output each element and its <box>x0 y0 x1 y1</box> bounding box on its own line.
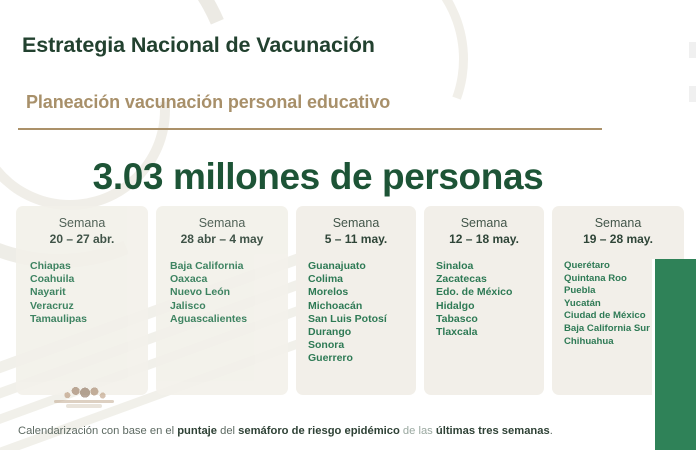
week-date-range: 12 – 18 may. <box>424 232 544 247</box>
week-card-header: Semana 19 – 28 may. <box>552 206 684 247</box>
list-item: Sonora <box>308 339 416 352</box>
state-list: Guanajuato Colima Morelos Michoacán San … <box>296 260 416 366</box>
green-sidebar-block <box>655 259 696 450</box>
state-list: Baja California Oaxaca Nuevo León Jalisc… <box>156 260 288 326</box>
edge-artifact <box>689 86 696 102</box>
week-label: Semana <box>16 216 148 231</box>
week-card-header: Semana 12 – 18 may. <box>424 206 544 247</box>
list-item: Guanajuato <box>308 260 416 273</box>
list-item: Tamaulipas <box>30 313 148 326</box>
headline-figure: 3.03 millones de personas <box>0 156 636 198</box>
list-item: Veracruz <box>30 300 148 313</box>
week-card-3: Semana 5 – 11 may. Guanajuato Colima Mor… <box>296 206 416 395</box>
list-item: Tabasco <box>436 313 544 326</box>
footer-text-1: Calendarización con base en el <box>18 425 177 437</box>
week-card-header: Semana 5 – 11 may. <box>296 206 416 247</box>
week-date-range: 19 – 28 may. <box>552 232 684 247</box>
list-item: Durango <box>308 326 416 339</box>
seal-ribbon <box>66 404 102 408</box>
page-title: Estrategia Nacional de Vacunación <box>22 33 375 58</box>
list-item: Edo. de México <box>436 286 544 299</box>
state-list: Chiapas Coahuila Nayarit Veracruz Tamaul… <box>16 260 148 326</box>
week-card-header: Semana 20 – 27 abr. <box>16 206 148 247</box>
list-item: Chiapas <box>30 260 148 273</box>
footer-bold-1: puntaje <box>177 425 217 437</box>
footer-note: Calendarización con base en el puntaje d… <box>18 425 648 437</box>
week-card-2: Semana 28 abr – 4 may Baja California Oa… <box>156 206 288 395</box>
list-item: Guerrero <box>308 352 416 365</box>
list-item: San Luis Potosí <box>308 313 416 326</box>
week-card-row: Semana 20 – 27 abr. Chiapas Coahuila Nay… <box>0 206 696 398</box>
list-item: Tlaxcala <box>436 326 544 339</box>
week-label: Semana <box>552 216 684 231</box>
list-item: Nuevo León <box>170 286 288 299</box>
list-item: Sinaloa <box>436 260 544 273</box>
list-item: Aguascalientes <box>170 313 288 326</box>
week-card-1: Semana 20 – 27 abr. Chiapas Coahuila Nay… <box>16 206 148 395</box>
list-item: Morelos <box>308 286 416 299</box>
week-card-4: Semana 12 – 18 may. Sinaloa Zacatecas Ed… <box>424 206 544 395</box>
week-date-range: 28 abr – 4 may <box>156 232 288 247</box>
list-item: Coahuila <box>30 273 148 286</box>
list-item: Colima <box>308 273 416 286</box>
list-item: Hidalgo <box>436 300 544 313</box>
list-item: Baja California <box>170 260 288 273</box>
gobierno-de-mexico-seal-logo <box>52 383 116 413</box>
week-date-range: 20 – 27 abr. <box>16 232 148 247</box>
state-list: Sinaloa Zacatecas Edo. de México Hidalgo… <box>424 260 544 339</box>
footer-text-3: de las <box>400 425 436 437</box>
page-subtitle: Planeación vacunación personal educativo <box>26 92 390 113</box>
list-item: Jalisco <box>170 300 288 313</box>
edge-artifact <box>689 42 696 58</box>
week-date-range: 5 – 11 may. <box>296 232 416 247</box>
week-label: Semana <box>424 216 544 231</box>
list-item: Nayarit <box>30 286 148 299</box>
week-label: Semana <box>156 216 288 231</box>
footer-text-4: . <box>550 425 553 437</box>
week-label: Semana <box>296 216 416 231</box>
list-item: Oaxaca <box>170 273 288 286</box>
seal-base <box>54 400 114 403</box>
week-card-header: Semana 28 abr – 4 may <box>156 206 288 247</box>
list-item: Michoacán <box>308 300 416 313</box>
list-item: Zacatecas <box>436 273 544 286</box>
footer-bold-3: últimas tres semanas <box>436 425 550 437</box>
footer-bold-2: semáforo de riesgo epidémico <box>238 425 400 437</box>
header-divider <box>18 128 602 130</box>
footer-text-2: del <box>217 425 238 437</box>
